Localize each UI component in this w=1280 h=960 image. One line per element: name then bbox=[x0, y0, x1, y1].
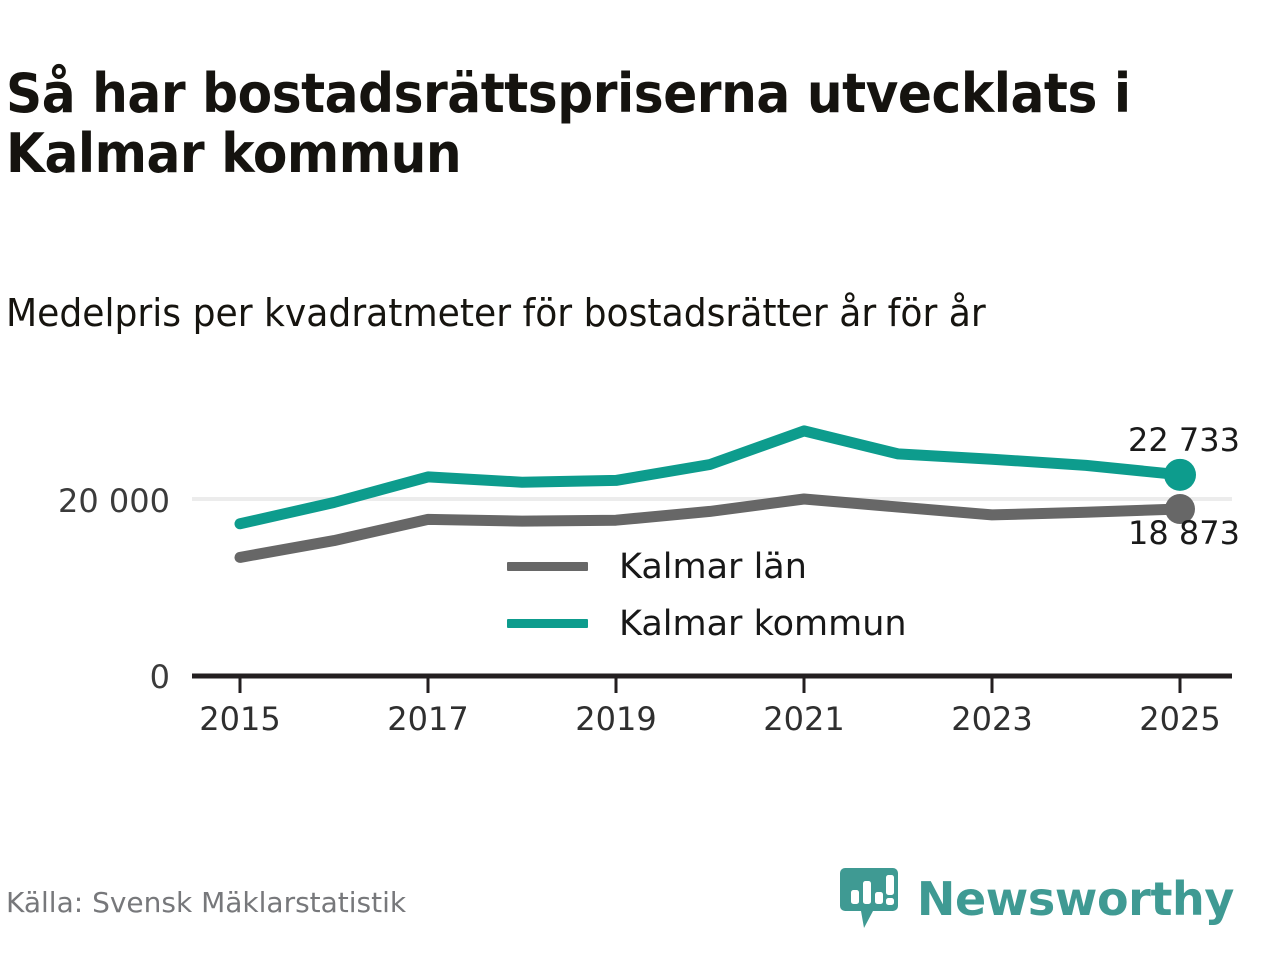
x-axis-tick-label-2017: 2017 bbox=[358, 700, 498, 738]
end-marker-kalmar-kommun bbox=[1164, 459, 1196, 491]
chart-plot-svg bbox=[0, 0, 1280, 960]
y-axis-tick-20000: 20 000 bbox=[0, 482, 170, 520]
legend-item-kalmar-kommun[interactable]: Kalmar kommun bbox=[507, 595, 907, 652]
legend-swatch-teal bbox=[507, 619, 588, 628]
newsworthy-bubble-barchart-icon bbox=[839, 866, 899, 932]
legend-swatch-gray bbox=[507, 562, 588, 571]
infographic-canvas: Så har bostadsrättspriserna utvecklats i… bbox=[0, 0, 1280, 960]
legend-label-kalmar-lan: Kalmar län bbox=[619, 547, 807, 587]
chart-legend: Kalmar län Kalmar kommun bbox=[507, 538, 907, 652]
x-axis-tick-label-2023: 2023 bbox=[922, 700, 1062, 738]
x-axis-tick-label-2019: 2019 bbox=[546, 700, 686, 738]
line-chart: 20 000 0 201520172019202120232025 22 733… bbox=[0, 0, 1280, 960]
newsworthy-logo[interactable]: Newsworthy bbox=[839, 866, 1234, 932]
x-axis-ticks bbox=[240, 678, 1180, 693]
newsworthy-wordmark: Newsworthy bbox=[917, 872, 1234, 926]
x-axis-tick-label-2025: 2025 bbox=[1110, 700, 1250, 738]
legend-label-kalmar-kommun: Kalmar kommun bbox=[619, 604, 907, 644]
x-axis-tick-label-2021: 2021 bbox=[734, 700, 874, 738]
value-label-kalmar-lan: 18 873 bbox=[1128, 514, 1240, 552]
value-label-kalmar-kommun: 22 733 bbox=[1128, 421, 1240, 459]
legend-item-kalmar-lan[interactable]: Kalmar län bbox=[507, 538, 907, 595]
x-axis-tick-label-2015: 2015 bbox=[170, 700, 310, 738]
y-axis-tick-0: 0 bbox=[0, 658, 170, 696]
source-note: Källa: Svensk Mäklarstatistik bbox=[6, 886, 406, 919]
